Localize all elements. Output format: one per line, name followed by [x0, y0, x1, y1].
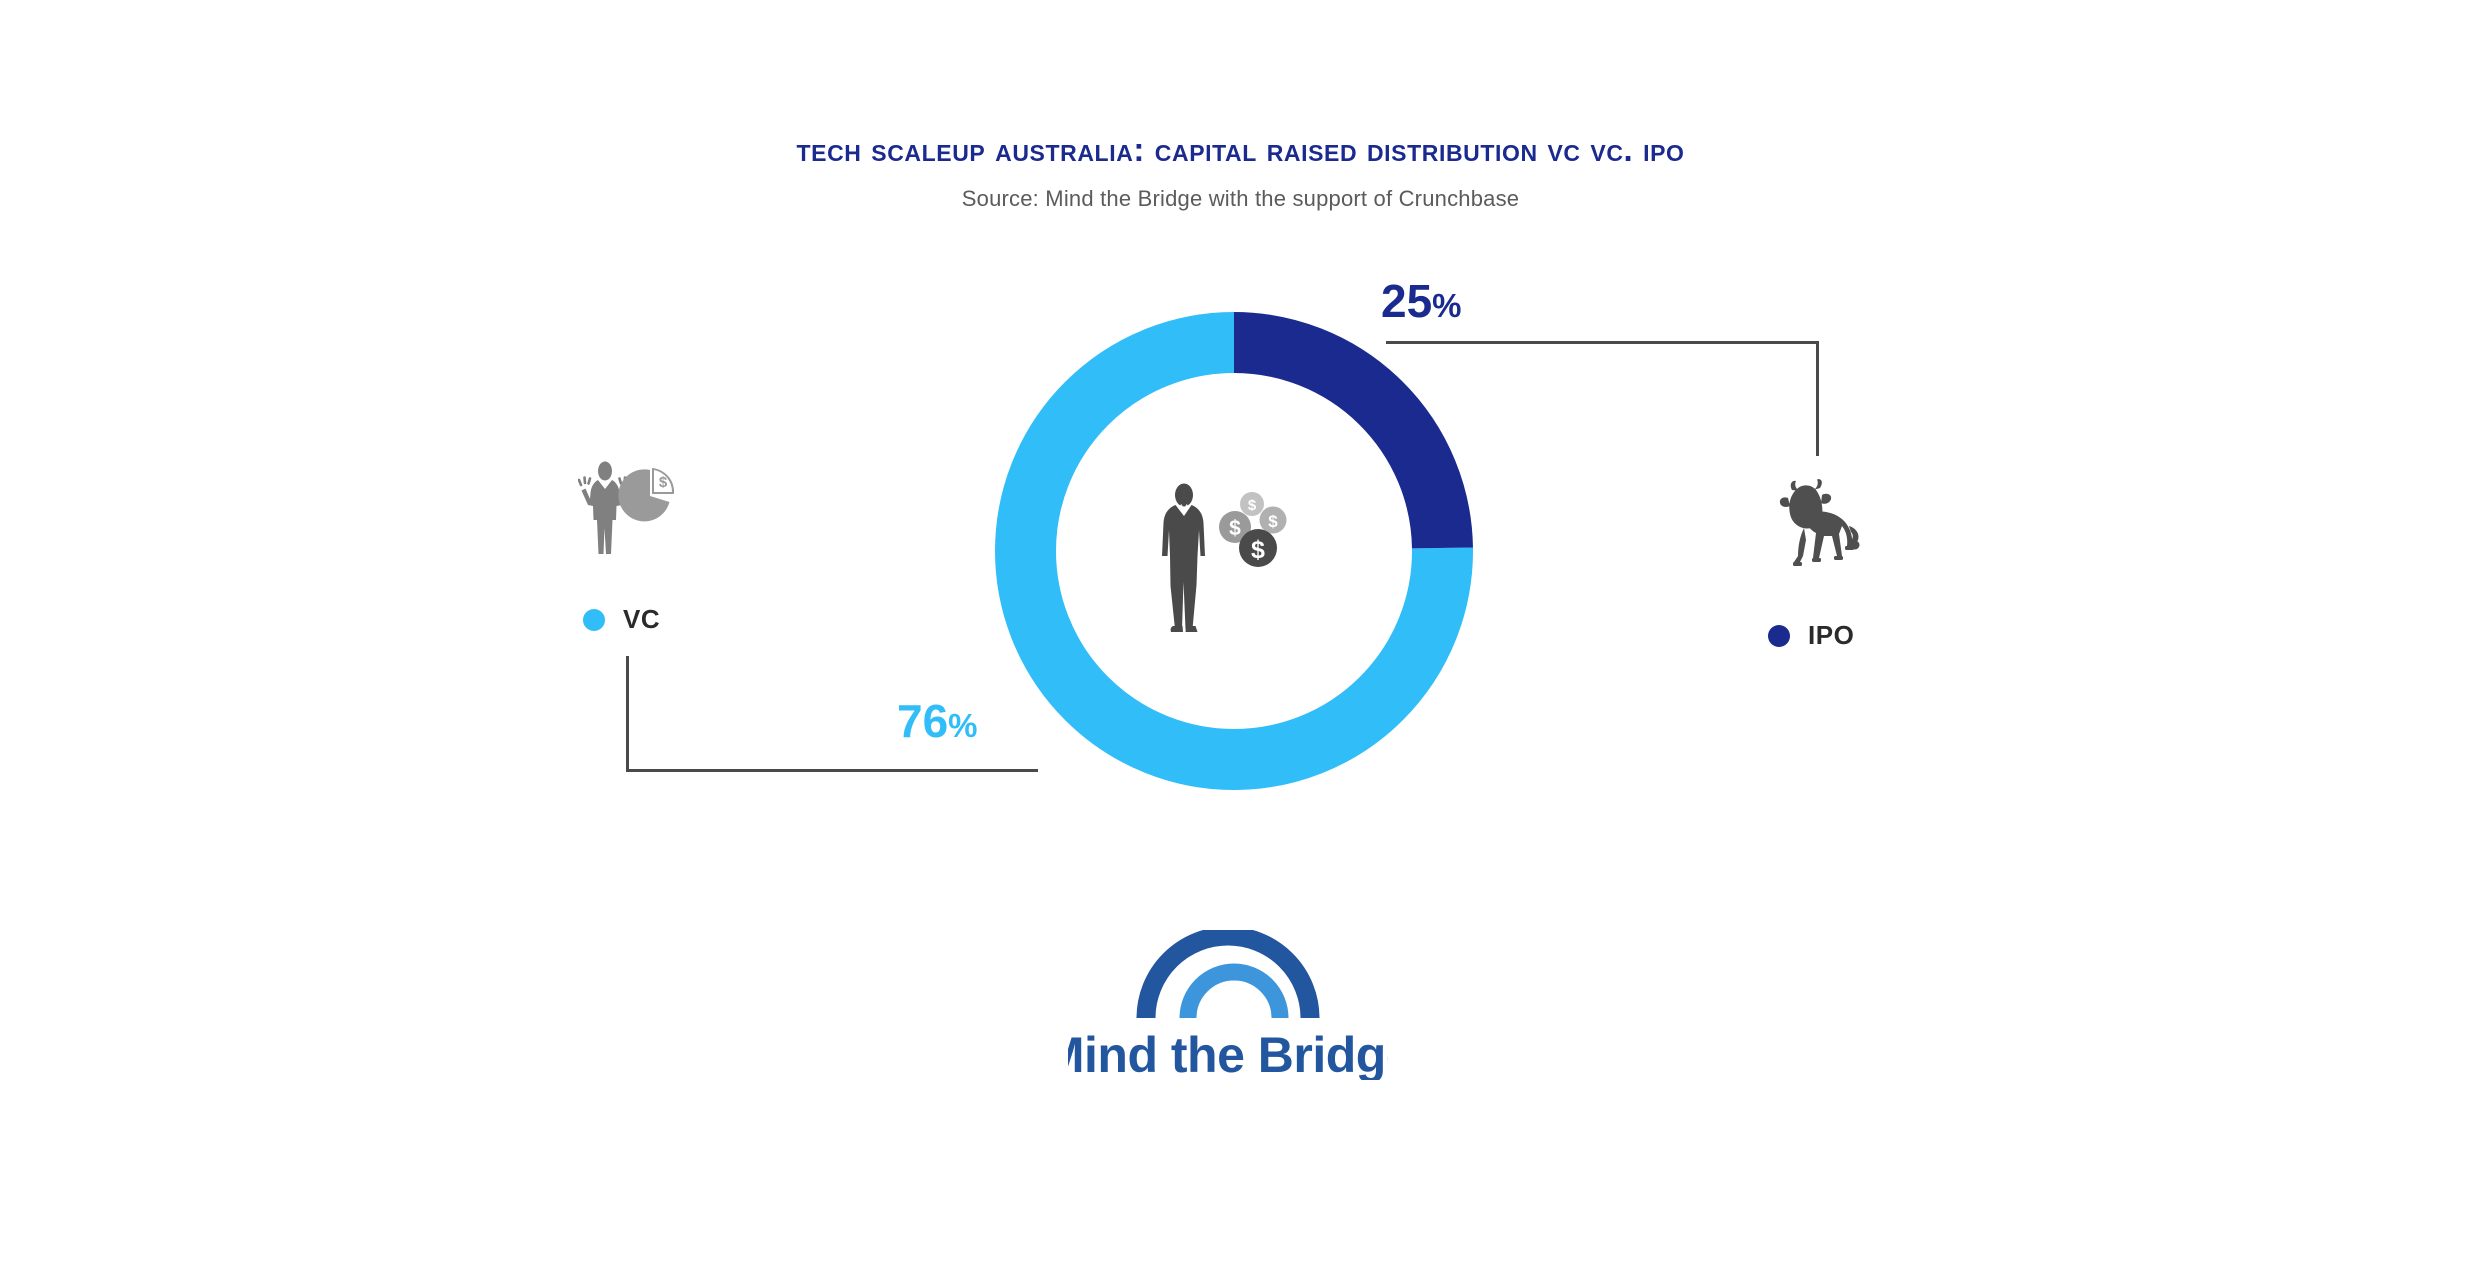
bridge-arcs-icon: [1146, 936, 1310, 1018]
legend-item-ipo[interactable]: IPO: [1768, 620, 1854, 651]
svg-text:$: $: [1248, 497, 1257, 514]
svg-text:$: $: [659, 474, 668, 491]
chart-subtitle: Source: Mind the Bridge with the support…: [0, 186, 2481, 212]
coin-stack-icon: $ $ $ $: [1219, 492, 1287, 567]
legend-dot-ipo: [1768, 625, 1790, 647]
legend-dot-vc: [583, 609, 605, 631]
chart-canvas: Tech Scaleup Australia: Capital Raised D…: [0, 0, 2481, 1262]
legend-item-vc[interactable]: VC: [583, 604, 660, 635]
svg-text:$: $: [1251, 536, 1265, 564]
legend-label-ipo: IPO: [1808, 620, 1854, 651]
businessman-with-money-icon: $ $ $ $: [1155, 482, 1315, 632]
investor-pie-chart-icon: $: [578, 458, 674, 554]
svg-text:$: $: [1268, 512, 1278, 531]
vc-leader-line: [626, 656, 1038, 772]
ipo-percentage-label: 25%: [1381, 278, 1462, 324]
mind-the-bridge-logo[interactable]: Mind the Bridge: [1068, 930, 1388, 1080]
logo-wordmark: Mind the Bridge: [1068, 1027, 1388, 1080]
svg-text:$: $: [1229, 517, 1241, 540]
legend-label-vc: VC: [623, 604, 660, 635]
ipo-percentage-symbol: %: [1432, 287, 1461, 324]
ipo-leader-line: [1386, 341, 1819, 456]
page-title: Tech Scaleup Australia: Capital Raised D…: [0, 131, 2481, 169]
bull-icon: [1776, 478, 1872, 574]
ipo-percentage-value: 25: [1381, 275, 1432, 327]
